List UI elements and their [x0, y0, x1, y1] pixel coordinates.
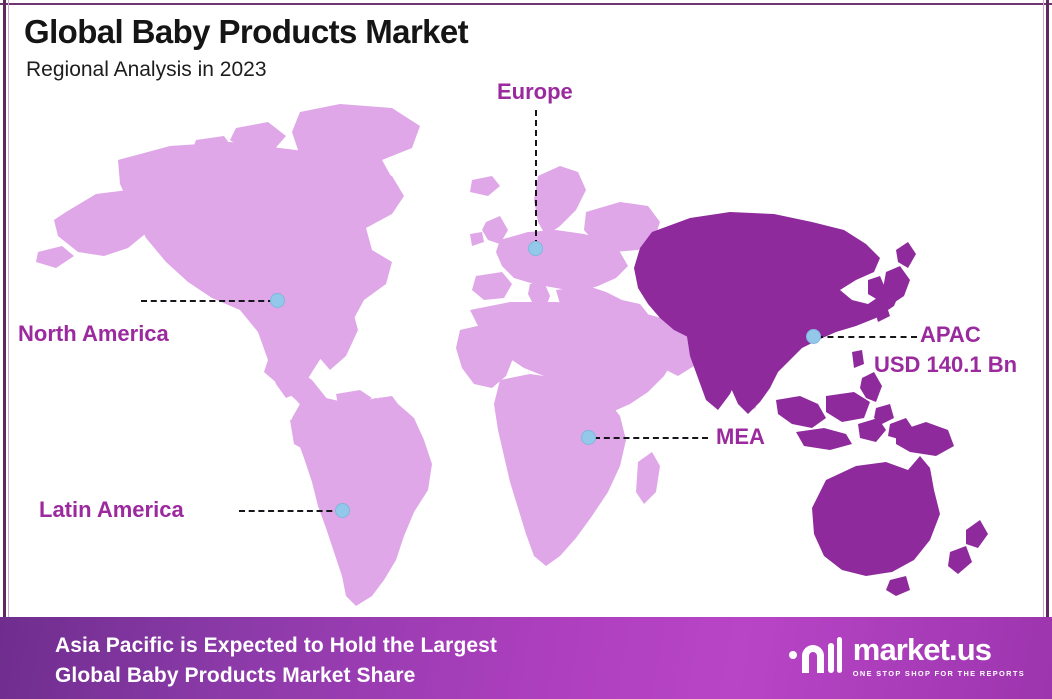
- logo-name: market.us: [853, 634, 1025, 665]
- map-marker-apac[interactable]: [806, 329, 821, 344]
- callout-label-apac: APAC: [920, 322, 981, 348]
- map-marker-north-america[interactable]: [270, 293, 285, 308]
- banner-headline: Asia Pacific is Expected to Hold the Lar…: [55, 631, 497, 691]
- logo-text: market.us ONE STOP SHOP FOR THE REPORTS: [853, 634, 1025, 678]
- leader-line-europe: [535, 110, 537, 246]
- header: Global Baby Products Market Regional Ana…: [24, 14, 468, 82]
- map-regions-apac-highlight: [634, 212, 988, 596]
- callout-value-apac: USD 140.1 Bn: [874, 352, 1017, 378]
- page-subtitle: Regional Analysis in 2023: [26, 57, 468, 82]
- banner-headline-line2: Global Baby Products Market Share: [55, 661, 497, 691]
- logo-tagline: ONE STOP SHOP FOR THE REPORTS: [853, 669, 1025, 678]
- banner-headline-line1: Asia Pacific is Expected to Hold the Lar…: [55, 634, 497, 657]
- market-us-logo-icon: [788, 633, 842, 678]
- map-marker-latin-america[interactable]: [335, 503, 350, 518]
- callout-label-latin-america: Latin America: [39, 497, 184, 523]
- callout-label-north-america: North America: [18, 321, 169, 347]
- callout-label-mea: MEA: [716, 424, 765, 450]
- map-regions-other: [36, 104, 756, 606]
- page-title: Global Baby Products Market: [24, 14, 468, 51]
- leader-line-north-america: [141, 300, 274, 302]
- callout-label-europe: Europe: [497, 79, 573, 105]
- map-marker-europe[interactable]: [528, 241, 543, 256]
- leader-line-mea: [594, 437, 708, 439]
- leader-line-latin-america: [239, 510, 342, 512]
- map-marker-mea[interactable]: [581, 430, 596, 445]
- leader-line-apac: [817, 336, 917, 338]
- bottom-banner: Asia Pacific is Expected to Hold the Lar…: [0, 617, 1052, 699]
- brand-logo[interactable]: market.us ONE STOP SHOP FOR THE REPORTS: [788, 633, 1025, 678]
- infographic-canvas: Global Baby Products Market Regional Ana…: [0, 0, 1052, 699]
